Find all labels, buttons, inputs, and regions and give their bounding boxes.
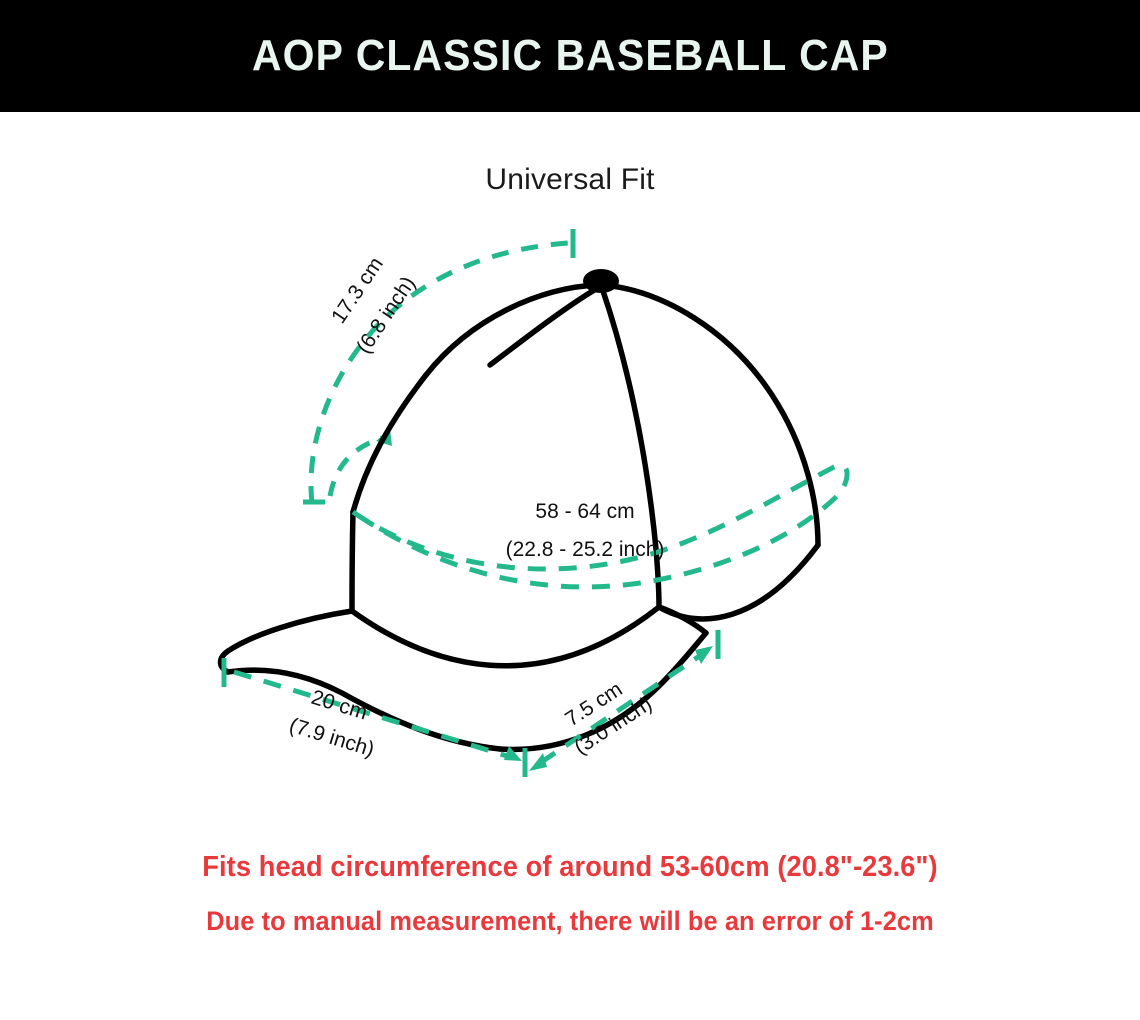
cap-button-icon xyxy=(583,269,619,293)
crown-height-dimension: 17.3 cm (6.8 inch) xyxy=(303,229,573,503)
page-title: AOP CLASSIC BASEBALL CAP xyxy=(252,34,889,78)
header-bar: AOP CLASSIC BASEBALL CAP xyxy=(0,0,1140,112)
brim-length-dimension: 20 cm (7.9 inch) xyxy=(224,658,525,777)
brim-top-edge xyxy=(228,611,352,651)
footer-notes: Fits head circumference of around 53-60c… xyxy=(0,852,1140,936)
cap-diagram: 17.3 cm (6.8 inch) xyxy=(0,215,1140,805)
head-circumference-cm-label: 58 - 64 cm xyxy=(535,500,634,523)
cap-outline xyxy=(221,285,819,749)
band-front-edge xyxy=(352,512,353,611)
head-circumference-inch-label: (22.8 - 25.2 inch) xyxy=(506,538,665,561)
fit-note-tolerance: Due to manual measurement, there will be… xyxy=(34,907,1106,935)
size-chart-page: AOP CLASSIC BASEBALL CAP Universal Fit 1… xyxy=(0,0,1140,1020)
fit-subtitle: Universal Fit xyxy=(0,163,1140,197)
brim-depth-arrowhead-left xyxy=(529,753,547,771)
band-bottom-front xyxy=(352,607,659,666)
cap-diagram-svg: 17.3 cm (6.8 inch) xyxy=(0,215,1140,805)
head-circumference-ellipse xyxy=(353,465,847,587)
fit-note-circumference: Fits head circumference of around 53-60c… xyxy=(34,852,1106,882)
band-bottom-rear xyxy=(659,545,818,619)
head-circumference-dimension: 58 - 64 cm (22.8 - 25.2 inch) xyxy=(353,465,847,587)
crown-panel-crease xyxy=(490,289,596,365)
brim-depth-arrowhead-right xyxy=(695,646,713,664)
